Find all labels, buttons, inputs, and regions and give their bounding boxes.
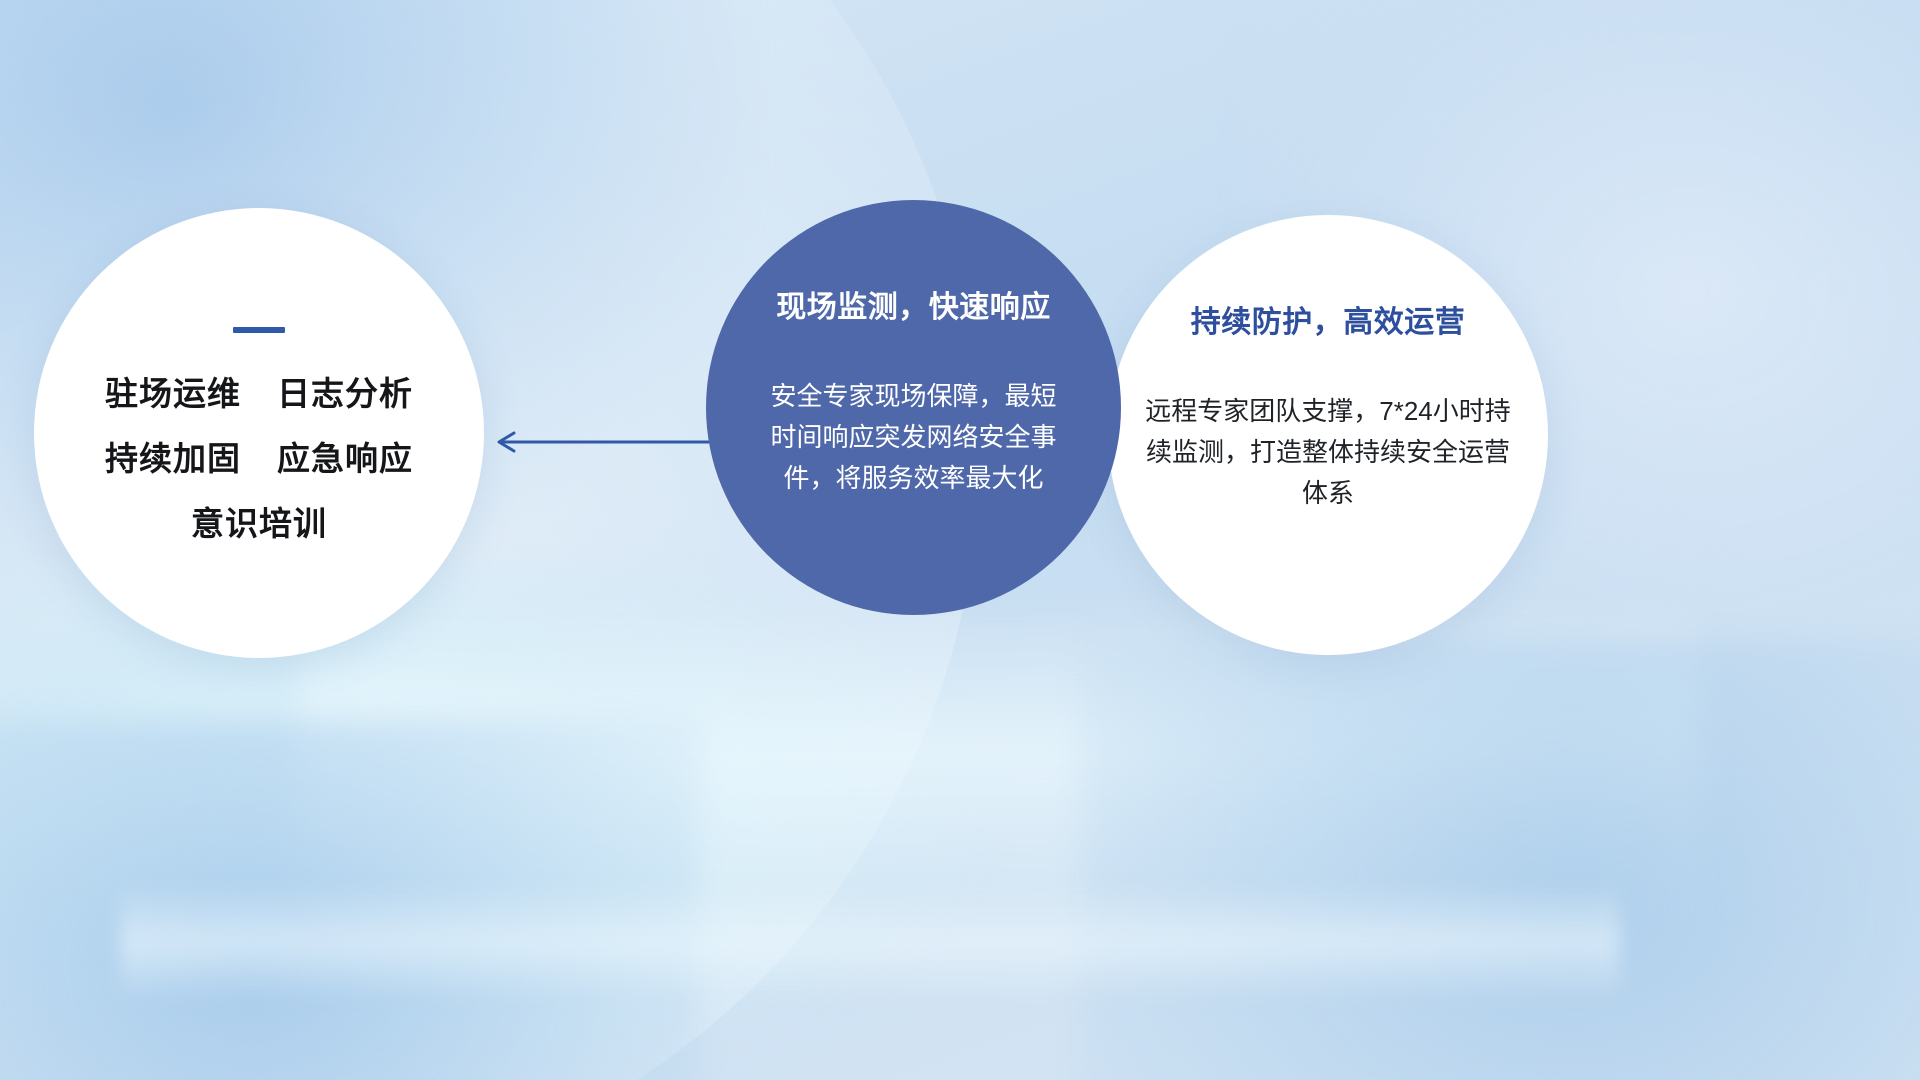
continuous-protection-circle: 持续防护，高效运营 远程专家团队支撑，7*24小时持续监测，打造整体持续安全运营… bbox=[1108, 215, 1548, 655]
left-arrow-icon bbox=[490, 427, 730, 457]
background-light-streak bbox=[120, 882, 1620, 1002]
keyword-row: 意识培训 bbox=[191, 507, 327, 540]
keyword-label: 意识培训 bbox=[191, 507, 327, 540]
onsite-monitoring-circle: 现场监测，快速响应 安全专家现场保障，最短时间响应突发网络安全事件，将服务效率最… bbox=[706, 200, 1121, 615]
keyword-label: 日志分析 bbox=[277, 377, 413, 410]
background-glow-bottom-right bbox=[1080, 640, 1920, 1080]
onsite-monitoring-body: 安全专家现场保障，最短时间响应突发网络安全事件，将服务效率最大化 bbox=[769, 376, 1059, 499]
blue-dash-divider-icon bbox=[233, 327, 285, 333]
continuous-protection-title: 持续防护，高效运营 bbox=[1191, 297, 1466, 341]
keyword-label: 驻场运维 bbox=[105, 377, 241, 410]
keyword-label: 应急响应 bbox=[277, 442, 413, 475]
keyword-label: 持续加固 bbox=[105, 442, 241, 475]
onsite-monitoring-content: 现场监测，快速响应 安全专家现场保障，最短时间响应突发网络安全事件，将服务效率最… bbox=[706, 200, 1121, 615]
capabilities-content: 驻场运维 日志分析 持续加固 应急响应 意识培训 bbox=[34, 208, 484, 658]
keyword-row: 驻场运维 日志分析 bbox=[105, 377, 413, 410]
continuous-protection-body: 远程专家团队支撑，7*24小时持续监测，打造整体持续安全运营体系 bbox=[1142, 391, 1514, 514]
onsite-monitoring-title: 现场监测，快速响应 bbox=[776, 282, 1051, 326]
continuous-protection-content: 持续防护，高效运营 远程专家团队支撑，7*24小时持续监测，打造整体持续安全运营… bbox=[1108, 215, 1548, 655]
keyword-row: 持续加固 应急响应 bbox=[105, 442, 413, 475]
capabilities-circle: 驻场运维 日志分析 持续加固 应急响应 意识培训 bbox=[34, 208, 484, 658]
